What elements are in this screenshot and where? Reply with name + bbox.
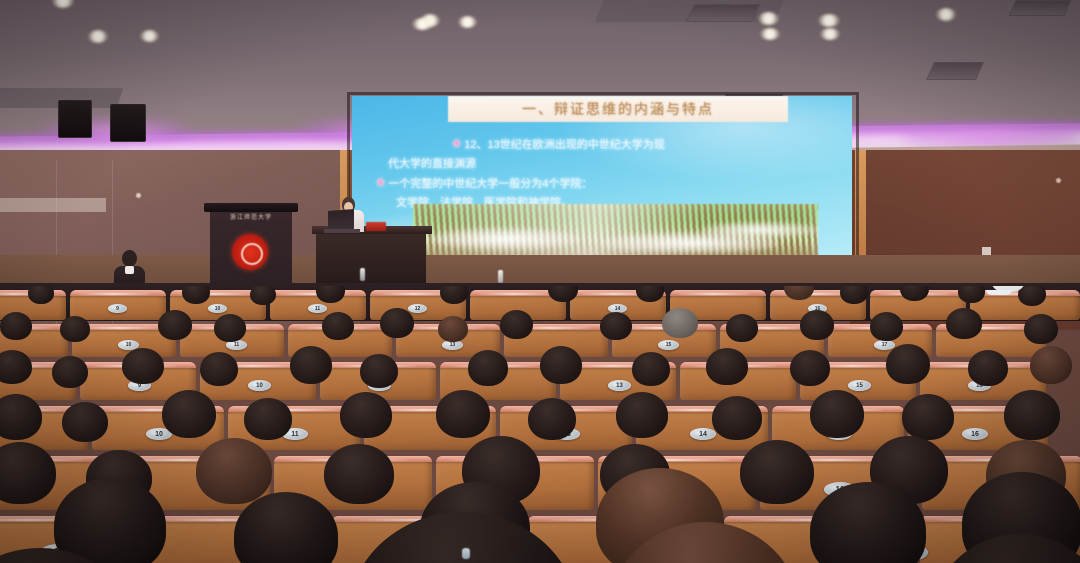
water-bottle bbox=[360, 268, 365, 281]
ceiling-spotlight bbox=[458, 16, 477, 28]
audience-head bbox=[706, 348, 748, 385]
audience-head bbox=[468, 350, 508, 386]
podium-institution-label: 浙江师范大学 bbox=[216, 212, 286, 222]
audience-head bbox=[712, 396, 762, 440]
mural-highlight bbox=[700, 222, 820, 238]
wall-light-dot bbox=[1056, 178, 1061, 183]
audience-head bbox=[28, 286, 54, 304]
audience-head bbox=[968, 350, 1008, 386]
seat-number-badge: 12 bbox=[408, 304, 427, 313]
seat-number-badge: 16 bbox=[962, 428, 988, 440]
audience-head bbox=[810, 390, 864, 438]
audience-head bbox=[340, 392, 392, 438]
audience-head bbox=[62, 402, 108, 442]
ceiling-vent bbox=[686, 4, 761, 22]
audience-head bbox=[740, 440, 814, 504]
audience-head bbox=[946, 308, 982, 339]
desk-red-box bbox=[366, 222, 386, 231]
audience-head bbox=[54, 478, 166, 563]
audience-head bbox=[122, 348, 164, 384]
audience-head bbox=[790, 350, 830, 386]
audience-head bbox=[800, 310, 834, 340]
wall-light-band bbox=[0, 198, 106, 212]
audience-head bbox=[162, 390, 216, 438]
seat-number-badge: 11 bbox=[308, 304, 327, 313]
ceiling-spotlight bbox=[412, 18, 433, 30]
audience-head bbox=[870, 312, 903, 341]
ceiling-spotlight bbox=[818, 14, 840, 27]
ceiling-spotlight bbox=[820, 28, 840, 40]
audience-head bbox=[902, 394, 954, 440]
audience-head bbox=[52, 356, 88, 388]
audience-head bbox=[438, 316, 468, 342]
audience-head bbox=[0, 350, 32, 384]
audience-head bbox=[214, 314, 246, 342]
audience-head bbox=[1018, 286, 1046, 306]
audience-head bbox=[324, 444, 394, 504]
audience-head bbox=[1024, 314, 1058, 344]
seat-number-badge: 10 bbox=[208, 304, 227, 313]
ceiling-spotlight bbox=[88, 30, 108, 43]
podium-top-surface bbox=[204, 203, 298, 212]
audience-head bbox=[322, 312, 354, 340]
audience-head bbox=[250, 286, 276, 305]
seat-number-badge: 14 bbox=[690, 428, 716, 440]
laptop-icon bbox=[328, 209, 354, 231]
audience-head bbox=[196, 438, 272, 504]
audience-head bbox=[616, 392, 668, 438]
audience-head bbox=[1004, 390, 1060, 440]
audience-head bbox=[360, 354, 398, 388]
audience-head bbox=[632, 352, 670, 386]
seat-number-badge: 13 bbox=[608, 380, 631, 391]
audience-head bbox=[662, 308, 698, 338]
seat-number-badge: 10 bbox=[248, 380, 271, 391]
audience-head bbox=[0, 394, 42, 440]
hair-clip-icon bbox=[462, 548, 470, 559]
audience-seating: 9 10 11 12 14 16 10 11 13 15 17 bbox=[0, 286, 1080, 563]
audience-head bbox=[436, 390, 490, 438]
ceiling-spotlight bbox=[758, 12, 779, 25]
audience-head bbox=[0, 312, 32, 340]
ceiling-vent bbox=[926, 62, 984, 80]
podium-emblem-icon bbox=[232, 234, 268, 270]
ceiling-spotlight bbox=[936, 8, 956, 21]
audience-head bbox=[290, 346, 332, 384]
audience-head bbox=[540, 346, 582, 384]
seat-number-badge: 15 bbox=[848, 380, 871, 391]
seat-number-badge: 9 bbox=[108, 304, 127, 313]
audience-head bbox=[1030, 346, 1072, 384]
audience-head bbox=[380, 308, 414, 338]
audience-head bbox=[528, 398, 576, 440]
ceiling-spotlight bbox=[760, 28, 780, 40]
wall-speaker-box bbox=[58, 100, 92, 138]
presenter-desk bbox=[316, 230, 426, 288]
mural-highlight bbox=[430, 228, 580, 250]
audience-head bbox=[60, 316, 90, 342]
audience-head bbox=[244, 398, 292, 440]
seat-number-badge: 15 bbox=[658, 340, 679, 350]
standing-person-head bbox=[122, 250, 137, 267]
laptop-base bbox=[324, 229, 360, 233]
seat-number-badge: 17 bbox=[874, 340, 895, 350]
audience-head bbox=[726, 314, 758, 342]
audience-head bbox=[600, 312, 632, 340]
ceiling-vent bbox=[1008, 0, 1071, 16]
auditorium-photo: 一、辩证思维的内涵与特点 ❀ 12、13世纪在欧洲出现的中世纪大学为现 代大学的… bbox=[0, 0, 1080, 563]
audience-head bbox=[200, 352, 238, 386]
wall-speaker-box bbox=[110, 104, 146, 142]
audience-head bbox=[886, 344, 930, 384]
wall-light-dot bbox=[136, 193, 141, 198]
standing-person-collar bbox=[125, 266, 134, 274]
water-bottle bbox=[498, 270, 503, 283]
ceiling-spotlight bbox=[140, 30, 159, 42]
audience-head bbox=[158, 310, 192, 340]
audience-head bbox=[500, 310, 533, 339]
